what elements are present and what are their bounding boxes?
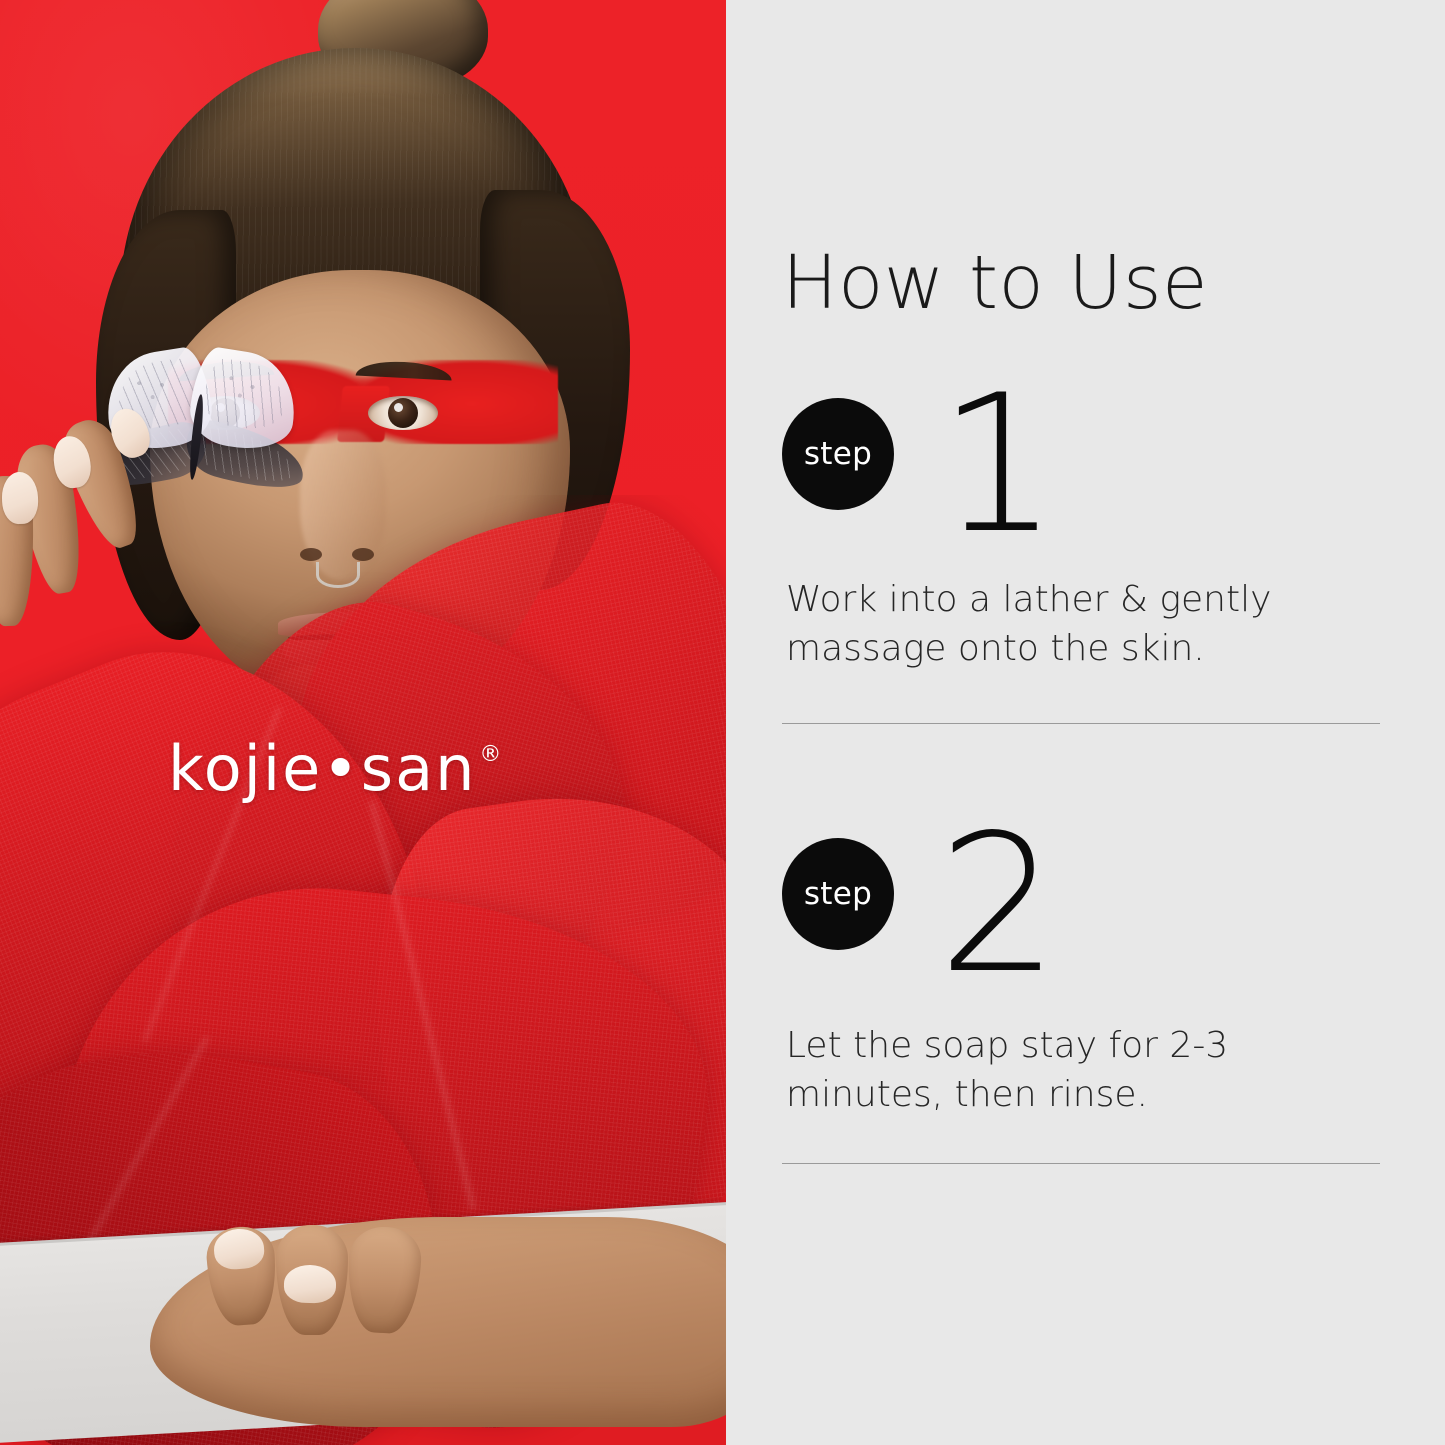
instructions-panel: How to Use step 1 Work into a lather & g… xyxy=(726,0,1445,1445)
iris-right xyxy=(388,398,418,428)
step-1-badge-label: step xyxy=(804,439,872,470)
divider-after-step-2 xyxy=(782,1163,1380,1164)
eye-right xyxy=(368,396,438,430)
model-hand-upper xyxy=(0,400,280,690)
step-1-description: Work into a lather & gently massage onto… xyxy=(786,576,1386,674)
how-to-use-page: kojie•san ® How to Use step 1 Work into … xyxy=(0,0,1445,1445)
brand-logo: kojie•san ® xyxy=(168,738,501,800)
step-2-description: Let the soap stay for 2-3 minutes, then … xyxy=(786,1022,1386,1120)
step-2-number: 2 xyxy=(938,810,1057,1000)
fingernail xyxy=(284,1265,337,1304)
step-item-1: step 1 Work into a lather & gently massa… xyxy=(782,396,1382,566)
step-2-header: step 2 xyxy=(782,836,1382,1006)
registered-trademark-icon: ® xyxy=(479,744,501,766)
step-2-badge-label: step xyxy=(804,879,872,910)
step-1-header: step 1 xyxy=(782,396,1382,566)
step-1-badge: step xyxy=(782,398,894,510)
divider-after-step-1 xyxy=(782,723,1380,724)
step-1-number: 1 xyxy=(938,370,1057,560)
page-title: How to Use xyxy=(782,246,1208,320)
step-item-2: step 2 Let the soap stay for 2-3 minutes… xyxy=(782,836,1382,1006)
step-2-badge: step xyxy=(782,838,894,950)
product-hero-photo: kojie•san ® xyxy=(0,0,726,1445)
brand-logo-text: kojie•san xyxy=(168,738,476,800)
